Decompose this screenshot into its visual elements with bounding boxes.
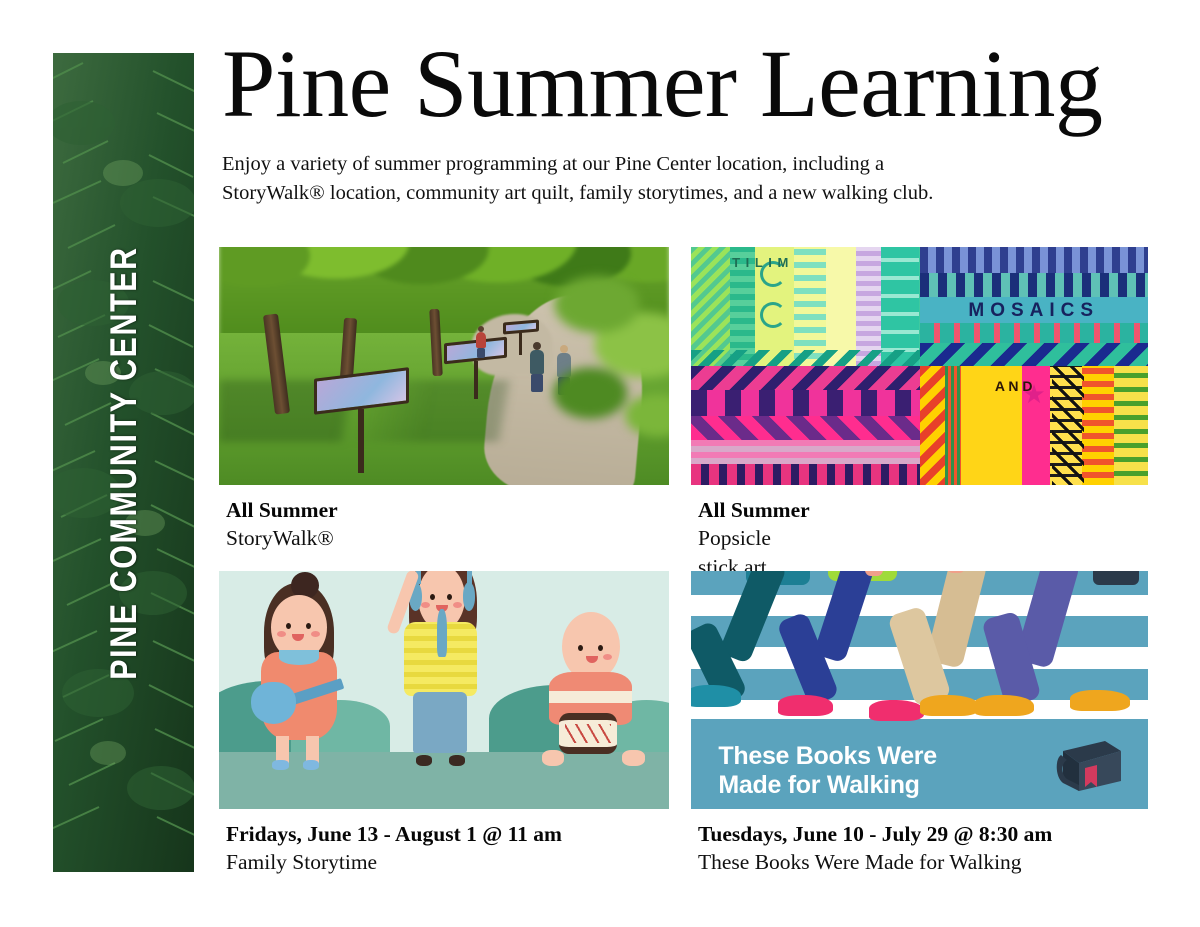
shoe — [416, 755, 432, 766]
quilt-band — [691, 416, 920, 440]
cheek — [277, 631, 286, 637]
baby-with-drum — [534, 609, 660, 766]
sidebar-banner-text: PINE COMMUNITY CENTER — [103, 246, 145, 679]
quilt-stripe — [945, 366, 961, 485]
sidebar-banner-label: PINE COMMUNITY CENTER — [103, 198, 145, 727]
program-image-art-quilt: T I L I M MOSAICS — [691, 247, 1148, 485]
person-body — [476, 332, 486, 348]
quilt-panel-green: T I L I M — [691, 247, 920, 366]
program-name: StoryWalk® — [226, 524, 338, 553]
person-legs — [531, 374, 543, 392]
person-head — [478, 326, 484, 332]
quilt-zigzag-border — [691, 350, 920, 366]
quilt-stripe — [1082, 366, 1114, 485]
sidebar-banner: PINE COMMUNITY CENTER — [53, 53, 194, 872]
child-with-ukulele — [246, 576, 372, 766]
cheek — [453, 602, 462, 608]
microphone — [437, 609, 448, 657]
quilt-row — [920, 247, 1149, 273]
walker-bag — [1093, 571, 1139, 585]
quilt-row — [920, 343, 1149, 366]
page-subtitle: Enjoy a variety of summer programming at… — [222, 150, 1122, 208]
leg — [622, 750, 645, 766]
walking-legs-crosswalk-illustration: These Books Were Made for Walking — [691, 571, 1148, 809]
quilt-zigzag-motif — [1052, 366, 1084, 485]
program-name: These Books Were Made for Walking — [698, 848, 1052, 877]
quilt-star-motif: ★ — [1022, 380, 1045, 410]
walker-shoe — [778, 695, 833, 716]
program-date: Fridays, June 13 - August 1 @ 11 am — [226, 820, 562, 848]
storywalk-sign-post — [519, 333, 522, 355]
book-icon — [1053, 737, 1125, 795]
storywalk-sign-post — [358, 409, 364, 473]
quilt-row — [920, 323, 1149, 343]
eye — [286, 623, 291, 629]
walker-shoe — [974, 695, 1033, 716]
park-path-storywalk-photo — [219, 247, 669, 485]
foreground-blurred-leaves — [543, 271, 669, 457]
shoe — [449, 755, 465, 766]
eye — [598, 645, 603, 651]
shoe — [272, 760, 288, 770]
walker-shoe — [691, 685, 741, 706]
quilt-row-mosaics: MOSAICS — [920, 297, 1149, 323]
quilt-panel-blue: MOSAICS — [920, 247, 1149, 366]
quilt-stripe — [691, 247, 730, 366]
mouth — [292, 634, 304, 641]
storywalk-sign-panel — [314, 367, 409, 415]
headphones-band — [416, 571, 472, 584]
quilt-stripe — [920, 366, 945, 485]
quilt-band — [691, 464, 920, 485]
program-caption-family-storytime: Fridays, June 13 - August 1 @ 11 am Fami… — [226, 820, 562, 877]
walker-hand — [865, 571, 883, 576]
cheek — [311, 631, 320, 637]
quilt-panel-pink — [691, 366, 920, 485]
walking-graphic-title: These Books Were Made for Walking — [718, 742, 1001, 799]
poster-page: PINE COMMUNITY CENTER Pine Summer Learni… — [0, 0, 1200, 927]
eye — [306, 623, 311, 629]
program-date: All Summer — [698, 496, 810, 524]
face — [562, 612, 620, 681]
quilt-letters-column: T I L I M — [732, 254, 789, 273]
storywalk-sign — [314, 373, 409, 473]
eye — [447, 594, 452, 600]
page-title: Pine Summer Learning — [222, 36, 1157, 132]
program-image-family-storytime — [219, 571, 669, 809]
drum — [559, 713, 617, 754]
eye — [578, 645, 583, 651]
subtitle-line-1: Enjoy a variety of summer programming at… — [222, 153, 884, 175]
quilt-stripe — [1114, 366, 1148, 485]
quilt-band — [691, 440, 920, 464]
program-image-storywalk — [219, 247, 669, 485]
program-image-walking-club: These Books Were Made for Walking — [691, 571, 1148, 809]
walking-title-line-2: Made for Walking — [718, 771, 1001, 800]
storywalk-sign-post — [474, 361, 478, 399]
quilt-stripe — [881, 247, 920, 366]
colorful-art-quilt-photo: T I L I M MOSAICS — [691, 247, 1148, 485]
quilt-row — [920, 273, 1149, 297]
child-singing-with-headphones — [390, 571, 507, 766]
program-date: All Summer — [226, 496, 338, 524]
walker-shoe — [920, 695, 979, 716]
shirt-stripe — [549, 691, 632, 704]
shoe — [303, 760, 319, 770]
program-name: Family Storytime — [226, 848, 562, 877]
pants — [413, 692, 467, 753]
children-playing-music-illustration — [219, 571, 669, 809]
cheek — [603, 654, 612, 660]
quilt-stripe — [961, 366, 993, 485]
quilt-stripe — [856, 247, 881, 366]
storywalk-sign-panel — [503, 319, 539, 334]
eye — [430, 594, 435, 600]
program-caption-walking-club: Tuesdays, June 10 - July 29 @ 8:30 am Th… — [698, 820, 1052, 877]
person-walking — [530, 342, 544, 392]
quilt-triangle-pattern — [920, 343, 1149, 366]
quilt-stripe — [826, 247, 856, 366]
person-walking — [476, 326, 486, 358]
person-legs — [477, 348, 485, 358]
leg — [542, 750, 565, 766]
headphone-earcup — [463, 582, 476, 610]
program-caption-storywalk: All Summer StoryWalk® — [226, 496, 338, 553]
person-body — [530, 350, 544, 374]
person-head — [533, 342, 541, 350]
quilt-stripe — [794, 247, 826, 366]
quilt-swirl-motif — [760, 302, 786, 328]
quilt-band — [691, 390, 920, 416]
cheek — [421, 602, 430, 608]
program-date: Tuesdays, June 10 - July 29 @ 8:30 am — [698, 820, 1052, 848]
quilt-band — [691, 366, 920, 390]
mouth — [586, 656, 598, 663]
quilt-panel-yellow: A N D ★ — [920, 366, 1149, 485]
walking-title-line-1: These Books Were — [718, 742, 1001, 771]
quilt-word-mosaics: MOSAICS — [968, 301, 1099, 320]
walker-shoe — [1070, 690, 1129, 711]
subtitle-line-2: StoryWalk® location, community art quilt… — [222, 179, 1122, 208]
